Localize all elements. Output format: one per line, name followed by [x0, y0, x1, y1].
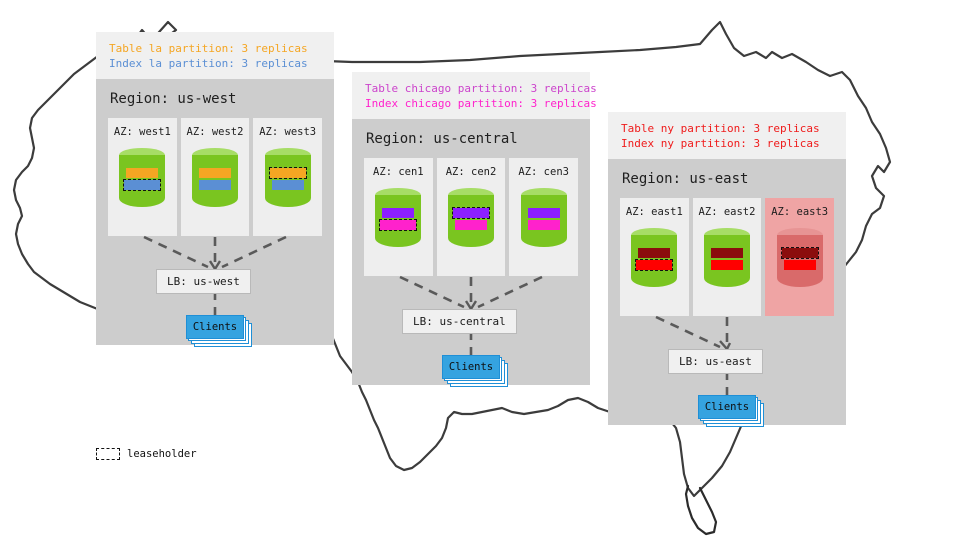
- legend: leaseholder: [96, 448, 197, 460]
- region-body-us-central: Region: us-central AZ: cen1 AZ: cen2: [352, 119, 590, 385]
- connector-arrowhead-lb-east: [720, 341, 730, 349]
- clients-label: Clients: [193, 321, 237, 333]
- lb-label: LB: us-east: [679, 355, 752, 368]
- clients-label: Clients: [449, 361, 493, 373]
- connector-cen3-to-lb: [478, 277, 542, 307]
- clients-stack-us-west[interactable]: Clients: [186, 315, 254, 347]
- us-map-florida-detail: [686, 486, 716, 534]
- region-header-us-east: Table ny partition: 3 replicas Index ny …: [608, 112, 846, 159]
- clients-stack-us-east[interactable]: Clients: [698, 395, 766, 427]
- load-balancer-us-east[interactable]: LB: us-east: [668, 349, 763, 374]
- region-header-us-west: Table la partition: 3 replicas Index la …: [96, 32, 334, 79]
- connector-east1-to-lb: [656, 317, 720, 347]
- legend-label: leaseholder: [127, 448, 197, 460]
- connector-arrowhead-lb-west: [210, 261, 220, 269]
- clients-stack-us-central[interactable]: Clients: [442, 355, 510, 387]
- lb-label: LB: us-west: [167, 275, 240, 288]
- connector-arrowhead-lb-central: [466, 301, 476, 309]
- connector-west3-to-lb: [222, 237, 286, 267]
- clients-box[interactable]: Clients: [186, 315, 244, 339]
- partition-line-index: Index chicago partition: 3 replicas: [365, 96, 577, 111]
- partition-line-table: Table ny partition: 3 replicas: [621, 121, 833, 136]
- connector-lines-us-east: [608, 159, 846, 413]
- connector-lines-us-central: [352, 119, 590, 373]
- region-header-us-central: Table chicago partition: 3 replicas Inde…: [352, 72, 590, 119]
- region-body-us-west: Region: us-west AZ: west1 AZ: west2: [96, 79, 334, 345]
- diagram-canvas: Table la partition: 3 replicas Index la …: [0, 0, 960, 540]
- load-balancer-us-central[interactable]: LB: us-central: [402, 309, 517, 334]
- region-panel-us-central: Table chicago partition: 3 replicas Inde…: [352, 72, 590, 385]
- partition-line-table: Table chicago partition: 3 replicas: [365, 81, 577, 96]
- connector-cen1-to-lb: [400, 277, 464, 307]
- connector-west1-to-lb: [144, 237, 208, 267]
- region-panel-us-east: Table ny partition: 3 replicas Index ny …: [608, 112, 846, 425]
- region-body-us-east: Region: us-east AZ: east1 AZ: east2: [608, 159, 846, 425]
- partition-line-index: Index ny partition: 3 replicas: [621, 136, 833, 151]
- clients-box[interactable]: Clients: [442, 355, 500, 379]
- lb-label: LB: us-central: [413, 315, 506, 328]
- clients-label: Clients: [705, 401, 749, 413]
- partition-line-index: Index la partition: 3 replicas: [109, 56, 321, 71]
- partition-line-table: Table la partition: 3 replicas: [109, 41, 321, 56]
- region-panel-us-west: Table la partition: 3 replicas Index la …: [96, 32, 334, 345]
- connector-lines-us-west: [96, 79, 334, 333]
- clients-box[interactable]: Clients: [698, 395, 756, 419]
- load-balancer-us-west[interactable]: LB: us-west: [156, 269, 251, 294]
- leaseholder-dashed-rectangle-icon: [96, 448, 120, 460]
